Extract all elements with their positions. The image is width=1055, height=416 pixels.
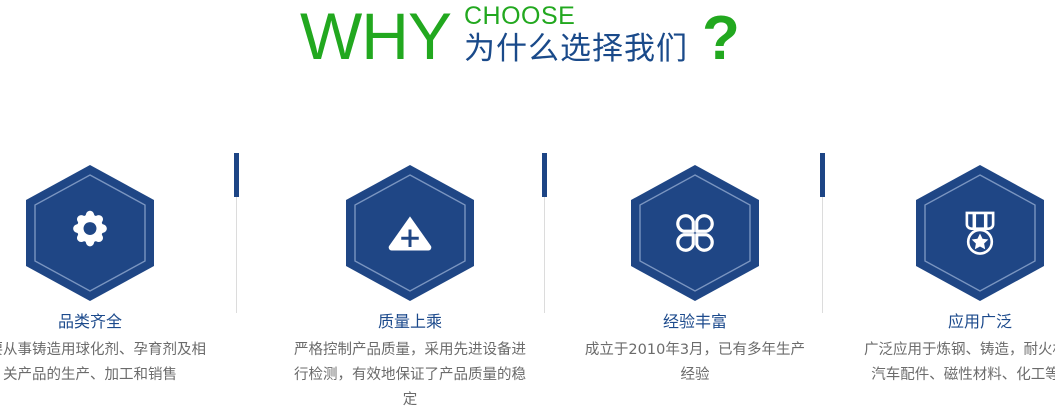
feature-card-1: 品类齐全 主要从事铸造用球化剂、孕育剂及相关产品的生产、加工和销售 [0,150,213,416]
header-title-group: WHY CHOOSE 为什么选择我们 ? [300,0,740,74]
divider-line [544,197,545,313]
card-description: 严格控制产品质量，采用先进设备进行检测，有效地保证了产品质量的稳定 [287,338,533,413]
divider-line [236,197,237,313]
gear-icon [62,205,118,261]
card-title: 质量上乘 [287,311,533,333]
hex-badge-2 [343,163,477,303]
divider-accent [542,153,547,197]
hex-badge-1 [23,163,157,303]
card-description: 主要从事铸造用球化剂、孕育剂及相关产品的生产、加工和销售 [0,338,213,388]
feature-card-4: 应用广泛 广泛应用于炼钢、铸造，耐火材料、汽车配件、磁性材料、化工等行业 [857,150,1055,416]
feature-cards-row: 品类齐全 主要从事铸造用球化剂、孕育剂及相关产品的生产、加工和销售 质量上乘 严… [0,150,1055,416]
medal-icon [952,205,1008,261]
card-title: 品类齐全 [0,311,213,333]
triangle-plus-icon [382,205,438,261]
feature-card-2: 质量上乘 严格控制产品质量，采用先进设备进行检测，有效地保证了产品质量的稳定 [287,150,533,416]
choose-word: CHOOSE [464,2,688,30]
divider-line [822,197,823,313]
divider-accent [820,153,825,197]
card-title: 应用广泛 [857,311,1055,333]
card-title: 经验丰富 [572,311,818,333]
feature-card-3: 经验丰富 成立于2010年3月，已有多年生产经验 [572,150,818,416]
column-divider-3 [820,153,825,313]
column-divider-2 [542,153,547,313]
why-word: WHY [300,0,451,72]
card-description: 成立于2010年3月，已有多年生产经验 [572,338,818,388]
section-header: WHY CHOOSE 为什么选择我们 ? [0,0,1055,95]
question-mark: ? [702,0,740,74]
divider-accent [234,153,239,197]
column-divider-1 [234,153,239,313]
four-petal-clover-icon [667,205,723,261]
header-text-stack: CHOOSE 为什么选择我们 [464,0,688,68]
hex-badge-4 [913,163,1047,303]
card-description: 广泛应用于炼钢、铸造，耐火材料、汽车配件、磁性材料、化工等行业 [857,338,1055,388]
header-subtitle-chinese: 为什么选择我们 [464,30,688,68]
hex-badge-3 [628,163,762,303]
